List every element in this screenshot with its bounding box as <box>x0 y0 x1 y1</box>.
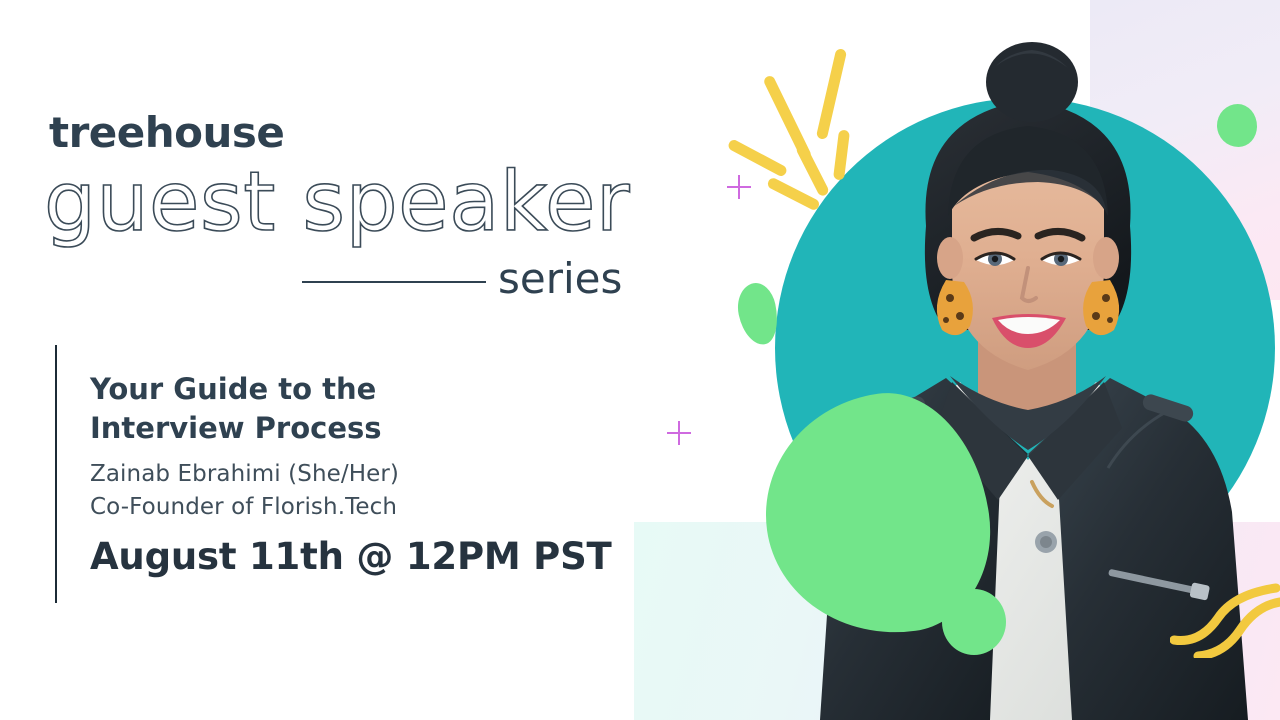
headline-outline-text: guest speaker <box>44 162 630 244</box>
talk-title: Your Guide to the Interview Process <box>90 370 520 448</box>
brand-wordmark: treehouse <box>49 108 284 157</box>
promo-graphic: treehouse guest speaker series Your Guid… <box>0 0 1280 720</box>
plus-mark-top <box>727 175 751 199</box>
plus-mark-bottom <box>667 421 691 445</box>
event-datetime: August 11th @ 12PM PST <box>90 535 612 578</box>
series-divider-rule <box>302 281 486 283</box>
left-vertical-rule <box>55 345 57 603</box>
green-dot-shape-bottom <box>942 589 1006 655</box>
speaker-role: Co-Founder of Florish.Tech <box>90 494 397 520</box>
yellow-spark-stroke <box>727 138 789 178</box>
series-word: series <box>498 254 622 303</box>
speaker-name: Zainab Ebrahimi (She/Her) <box>90 461 399 487</box>
yellow-wavy-lines <box>1170 578 1280 658</box>
